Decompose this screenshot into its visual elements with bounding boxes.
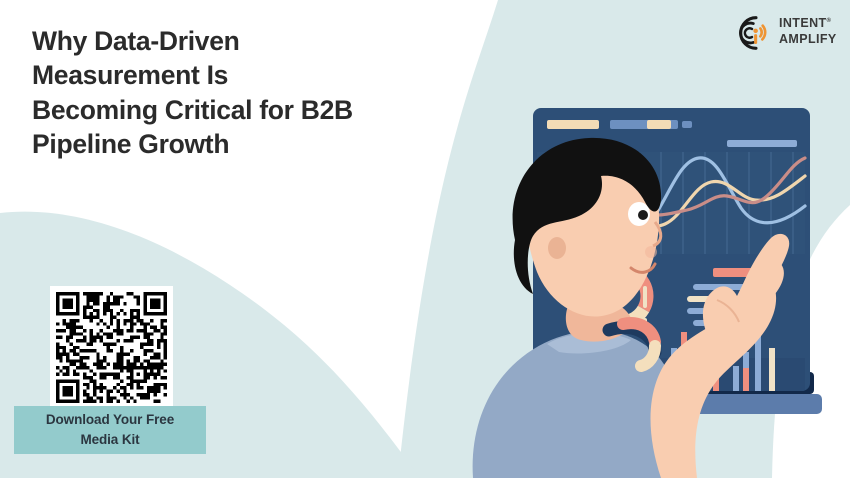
page-title: Why Data-Driven Measurement Is Becoming …: [32, 24, 472, 162]
cta-line-1: Download Your Free: [46, 410, 174, 430]
person-eye-pupil: [638, 210, 648, 220]
qr-code-image: [56, 292, 167, 403]
header-tag-right: [727, 140, 797, 147]
qr-block: [50, 286, 173, 409]
person-cheek: [645, 246, 657, 258]
tick-marker-cream: [643, 286, 647, 308]
header-tag-cream: [547, 120, 599, 129]
analytics-illustration: [455, 0, 850, 478]
person-ear: [548, 237, 566, 259]
header-tag-small: [682, 121, 692, 128]
qr-code[interactable]: [50, 286, 173, 409]
download-media-kit-button[interactable]: Download Your Free Media Kit: [14, 406, 206, 454]
banner-canvas: Why Data-Driven Measurement Is Becoming …: [0, 0, 850, 478]
header-tag-cream-2: [647, 120, 671, 129]
cta-line-2: Media Kit: [80, 430, 139, 450]
